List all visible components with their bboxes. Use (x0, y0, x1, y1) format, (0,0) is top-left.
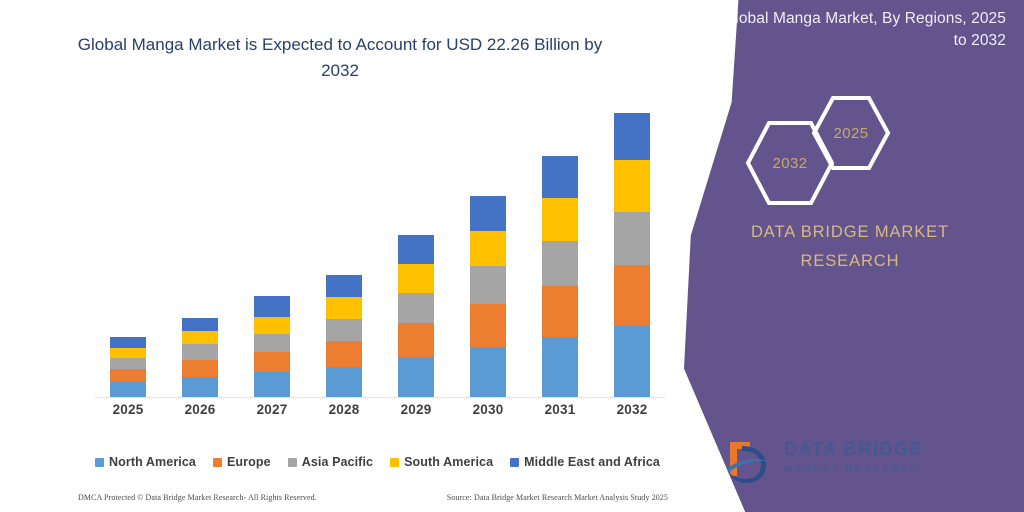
logo-line-1: DATA BRIDGE (784, 440, 923, 460)
footer: DMCA Protected © Data Bridge Market Rese… (78, 489, 668, 505)
bar-segment (110, 337, 146, 348)
x-axis-label-2027: 2027 (239, 402, 305, 424)
bar-segment (110, 348, 146, 359)
stacked-bar (326, 275, 362, 397)
infographic-root: Global Manga Market is Expected to Accou… (0, 0, 1024, 512)
legend-item-south-america[interactable]: South America (390, 455, 493, 469)
legend-label: North America (109, 455, 196, 469)
legend-item-north-america[interactable]: North America (95, 455, 196, 469)
x-axis-labels: 20252026202720282029203020312032 (95, 402, 665, 424)
legend-item-europe[interactable]: Europe (213, 455, 271, 469)
bar-segment (326, 319, 362, 341)
stacked-bar (470, 196, 506, 397)
chart-plot-area (95, 110, 665, 398)
brand-name: DATA BRIDGE MARKET RESEARCH (684, 218, 1016, 276)
brand-line-1: DATA BRIDGE MARKET (751, 223, 949, 241)
bar-segment (614, 326, 650, 397)
bar-segment (470, 231, 506, 266)
bar-segment (254, 317, 290, 334)
bar-segment (470, 347, 506, 397)
bar-segment (542, 241, 578, 286)
bar-segment (182, 344, 218, 359)
stacked-bar (398, 235, 434, 397)
bar-column-2027 (239, 110, 305, 397)
bar-segment (398, 293, 434, 323)
legend-swatch-icon (390, 458, 399, 467)
bar-column-2025 (95, 110, 161, 397)
stacked-bar (182, 318, 218, 397)
logo-line-2: MARKET RESEARCH (784, 464, 923, 475)
bar-segment (254, 352, 290, 372)
hexagon-badges: 2032 2025 (684, 92, 1024, 212)
bar-segment (326, 275, 362, 297)
bar-segment (470, 304, 506, 347)
x-axis-label-2030: 2030 (455, 402, 521, 424)
bar-group (95, 110, 665, 397)
x-axis-label-2026: 2026 (167, 402, 233, 424)
bar-segment (614, 113, 650, 160)
hexagon-2025-label: 2025 (834, 125, 869, 142)
bar-segment (470, 196, 506, 231)
bar-segment (110, 382, 146, 397)
bar-segment (110, 369, 146, 382)
bar-segment (614, 212, 650, 266)
brand-line-2: RESEARCH (684, 247, 1016, 276)
bar-column-2032 (599, 110, 665, 397)
x-axis-label-2029: 2029 (383, 402, 449, 424)
bar-segment (254, 372, 290, 397)
data-bridge-logo-icon (724, 436, 776, 488)
legend-label: Middle East and Africa (524, 455, 660, 469)
legend-swatch-icon (288, 458, 297, 467)
stacked-bar (254, 296, 290, 397)
x-axis-label-2025: 2025 (95, 402, 161, 424)
footer-source: Source: Data Bridge Market Research Mark… (447, 493, 668, 502)
hexagon-2025-badge: 2025 (810, 94, 892, 172)
bar-segment (542, 286, 578, 337)
x-axis-label-2031: 2031 (527, 402, 593, 424)
bar-segment (110, 358, 146, 369)
legend-item-middle-east-and-africa[interactable]: Middle East and Africa (510, 455, 660, 469)
legend-label: South America (404, 455, 493, 469)
x-axis-label-2032: 2032 (599, 402, 665, 424)
hexagon-2032-label: 2032 (773, 155, 808, 172)
legend-label: Europe (227, 455, 271, 469)
legend-swatch-icon (95, 458, 104, 467)
bar-segment (470, 266, 506, 304)
stacked-bar (614, 113, 650, 397)
legend-label: Asia Pacific (302, 455, 373, 469)
company-logo: DATA BRIDGE MARKET RESEARCH (704, 434, 1004, 490)
bar-column-2029 (383, 110, 449, 397)
footer-copyright: DMCA Protected © Data Bridge Market Rese… (78, 493, 317, 502)
x-axis-line (95, 397, 665, 398)
bar-segment (614, 265, 650, 326)
stacked-bar (542, 156, 578, 397)
legend-swatch-icon (213, 458, 222, 467)
bar-segment (254, 296, 290, 316)
bar-segment (398, 323, 434, 357)
brand-panel: Global Manga Market, By Regions, 2025 to… (684, 0, 1024, 512)
legend-swatch-icon (510, 458, 519, 467)
chart-title: Global Manga Market is Expected to Accou… (60, 32, 620, 83)
bar-column-2030 (455, 110, 521, 397)
bar-segment (182, 377, 218, 397)
bar-segment (614, 160, 650, 211)
bar-column-2028 (311, 110, 377, 397)
bar-segment (542, 198, 578, 241)
bar-segment (326, 341, 362, 367)
x-axis-label-2028: 2028 (311, 402, 377, 424)
bar-segment (542, 156, 578, 198)
bar-column-2031 (527, 110, 593, 397)
chart-legend: North AmericaEuropeAsia PacificSouth Ame… (95, 452, 660, 472)
bar-segment (398, 264, 434, 293)
logo-wordmark: DATA BRIDGE MARKET RESEARCH (784, 440, 923, 475)
bar-column-2026 (167, 110, 233, 397)
bar-segment (326, 297, 362, 318)
legend-item-asia-pacific[interactable]: Asia Pacific (288, 455, 373, 469)
stacked-bar (110, 337, 146, 397)
bar-segment (542, 337, 578, 397)
bar-segment (182, 318, 218, 331)
bar-segment (182, 331, 218, 345)
bar-segment (254, 334, 290, 352)
bar-segment (326, 367, 362, 397)
bar-segment (398, 235, 434, 264)
panel-title: Global Manga Market, By Regions, 2025 to… (710, 8, 1006, 53)
bar-segment (398, 357, 434, 397)
bar-segment (182, 360, 218, 377)
